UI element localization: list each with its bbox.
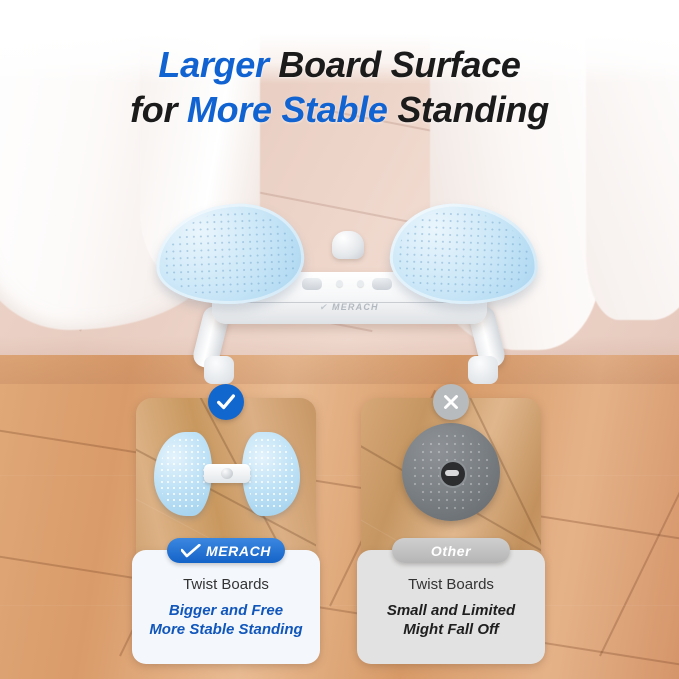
product-bolt: [372, 278, 392, 290]
headline: Larger Board Surface for More Stable Sta…: [0, 42, 679, 132]
check-icon: [208, 384, 244, 420]
headline-text-board-surface: Board Surface: [269, 44, 521, 85]
card-title: Twist Boards: [183, 574, 269, 596]
product-brand-logo: ✔MERACH: [212, 302, 487, 313]
brand-badge-label: MERACH: [206, 543, 271, 559]
brand-badge-merach: MERACH: [167, 538, 285, 563]
card-subtext-line-2: More Stable Standing: [149, 620, 302, 639]
card-subtext: Bigger and Free More Stable Standing: [149, 601, 302, 639]
headline-text-for: for: [130, 89, 187, 130]
card-title: Twist Boards: [408, 574, 494, 596]
card-subtext: Small and Limited Might Fall Off: [387, 601, 515, 639]
other-twist-disc-product: [402, 423, 500, 521]
board-rim: [388, 201, 539, 306]
headline-text-standing: Standing: [388, 89, 549, 130]
comparison-card-other: Twist Boards Small and Limited Might Fal…: [361, 398, 541, 656]
check-swoosh-icon: [181, 544, 201, 558]
cross-icon: [433, 384, 469, 420]
card-text-panel-merach: Twist Boards Bigger and Free More Stable…: [132, 550, 320, 664]
product-foot-left: [204, 356, 234, 384]
twist-board-center-bar: [204, 464, 250, 483]
headline-line-2: for More Stable Standing: [0, 87, 679, 132]
headline-line-1: Larger Board Surface: [0, 42, 679, 87]
comparison-section: Twist Boards Bigger and Free More Stable…: [0, 398, 679, 656]
product-pin: [336, 280, 343, 287]
twist-board-wing-right: [242, 432, 300, 516]
product-pin: [357, 280, 364, 287]
headline-highlight-larger: Larger: [158, 44, 268, 85]
card-subtext-line-1: Small and Limited: [387, 601, 515, 620]
card-subtext-line-1: Bigger and Free: [149, 601, 302, 620]
brand-badge-label: Other: [431, 543, 471, 559]
comparison-card-merach: Twist Boards Bigger and Free More Stable…: [136, 398, 316, 656]
product-bolt: [302, 278, 322, 290]
product-brand-label: MERACH: [332, 302, 379, 312]
merach-twist-boards-product: [154, 428, 300, 520]
headline-highlight-more-stable: More Stable: [187, 89, 388, 130]
board-texture: [247, 437, 295, 511]
hero-product-photo: ✔MERACH: [150, 196, 550, 366]
brand-badge-other: Other: [392, 538, 510, 563]
check-swoosh-icon: ✔: [319, 302, 330, 313]
board-texture: [159, 437, 207, 511]
product-foot-right: [468, 356, 498, 384]
card-text-panel-other: Twist Boards Small and Limited Might Fal…: [357, 550, 545, 664]
disc-center-logo: [439, 460, 467, 488]
product-center-knob: [332, 231, 364, 259]
card-subtext-line-2: Might Fall Off: [387, 620, 515, 639]
product-marketing-image: Larger Board Surface for More Stable Sta…: [0, 0, 679, 679]
product-board-right: [388, 201, 539, 306]
